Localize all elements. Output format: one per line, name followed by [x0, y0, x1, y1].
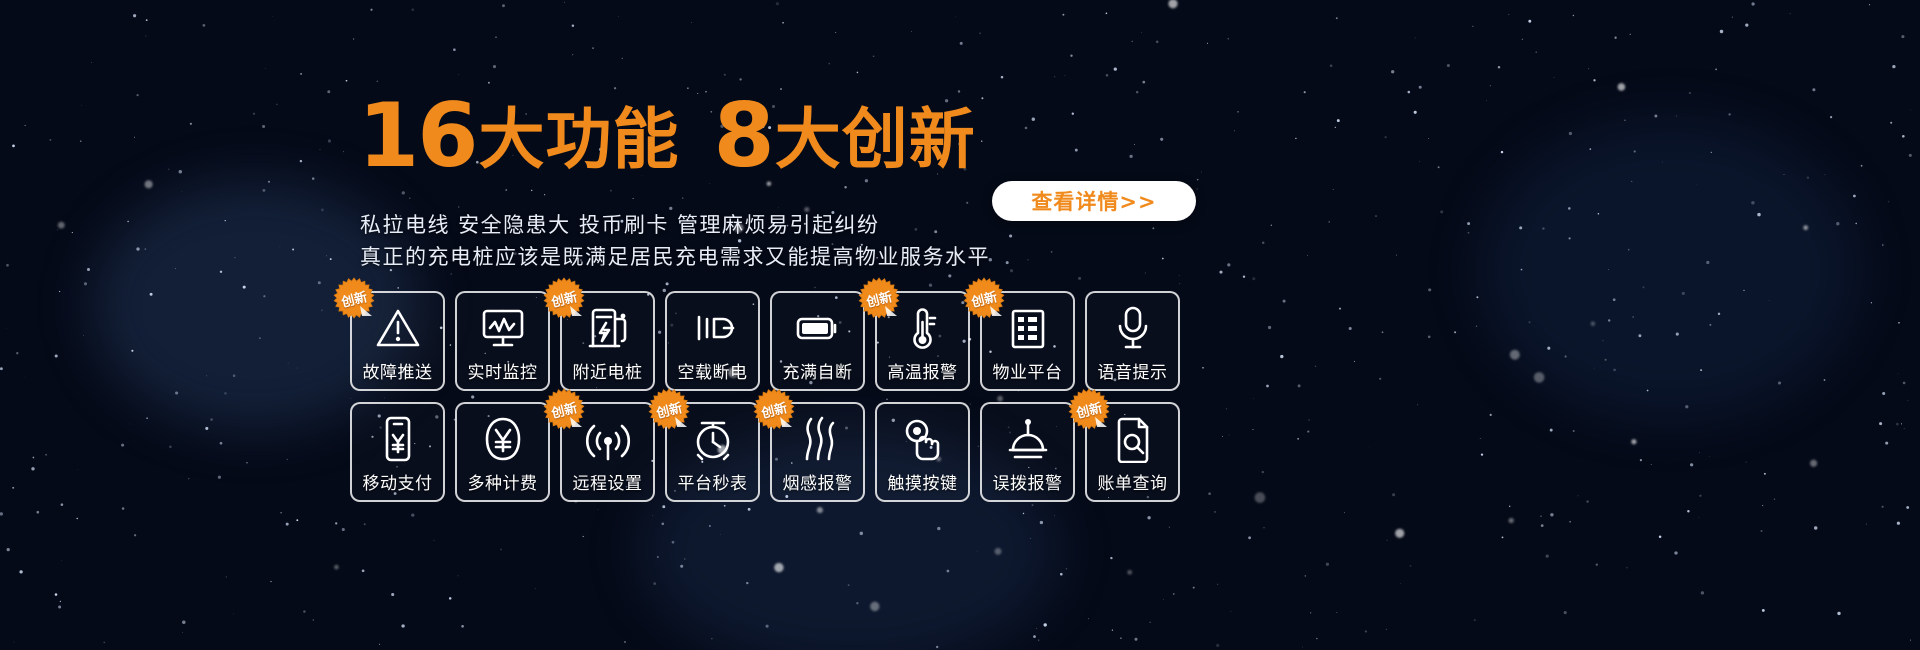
- monitor-waveform-icon: [457, 299, 548, 357]
- mobile-payment-icon: [352, 410, 443, 468]
- feature-card[interactable]: 创新附近电桩: [560, 291, 655, 391]
- feature-card[interactable]: 创新账单查询: [1085, 402, 1180, 502]
- headline-number-8: 8: [713, 84, 772, 187]
- feature-card-label: 触摸按键: [888, 469, 958, 494]
- feature-card[interactable]: 创新平台秒表: [665, 402, 760, 502]
- feature-card-label: 远程设置: [573, 469, 643, 494]
- feature-row-2: 移动支付多种计费创新远程设置创新平台秒表创新烟感报警触摸按键误拨报警创新账单查询: [350, 402, 1180, 502]
- subtitle-line-2: 真正的充电桩应该是既满足居民充电需求又能提高物业服务水平: [360, 241, 990, 271]
- feature-card-label: 附近电桩: [573, 358, 643, 383]
- headline: 16大功能8大创新: [358, 92, 976, 180]
- headline-text-innovations: 大创新: [775, 101, 976, 178]
- feature-card-label: 账单查询: [1098, 469, 1168, 494]
- promo-banner: 16大功能8大创新 私拉电线 安全隐患大 投币刷卡 管理麻烦易引起纠纷 真正的充…: [0, 0, 1920, 650]
- battery-full-icon: [772, 299, 863, 357]
- innovation-badge: 创新: [857, 276, 901, 320]
- innovation-badge: 创新: [332, 276, 376, 320]
- feature-card-label: 移动支付: [363, 469, 433, 494]
- feature-card[interactable]: 触摸按键: [875, 402, 970, 502]
- feature-card[interactable]: 多种计费: [455, 402, 550, 502]
- feature-card[interactable]: 创新高温报警: [875, 291, 970, 391]
- touch-hand-icon: [877, 410, 968, 468]
- feature-card[interactable]: 空载断电: [665, 291, 760, 391]
- feature-grid: 创新故障推送实时监控创新附近电桩空载断电充满自断创新高温报警创新物业平台语音提示…: [350, 291, 1180, 513]
- feature-card-label: 实时监控: [468, 358, 538, 383]
- feature-card-label: 语音提示: [1098, 358, 1168, 383]
- feature-card[interactable]: 创新故障推送: [350, 291, 445, 391]
- subtitle-line-1: 私拉电线 安全隐患大 投币刷卡 管理麻烦易引起纠纷: [360, 209, 880, 239]
- headline-number-16: 16: [358, 84, 476, 187]
- view-details-button[interactable]: 查看详情>>: [992, 181, 1196, 221]
- nebula-glow-3: [1480, 120, 1860, 420]
- feature-card-label: 物业平台: [993, 358, 1063, 383]
- feature-card[interactable]: 误拨报警: [980, 402, 1075, 502]
- feature-card[interactable]: 充满自断: [770, 291, 865, 391]
- alarm-bell-icon: [982, 410, 1073, 468]
- feature-card-label: 烟感报警: [783, 469, 853, 494]
- feature-card[interactable]: 语音提示: [1085, 291, 1180, 391]
- yuan-coin-icon: [457, 410, 548, 468]
- plug-power-off-icon: [667, 299, 758, 357]
- feature-card[interactable]: 实时监控: [455, 291, 550, 391]
- feature-card-label: 多种计费: [468, 469, 538, 494]
- feature-card[interactable]: 移动支付: [350, 402, 445, 502]
- innovation-badge: 创新: [647, 387, 691, 431]
- innovation-badge: 创新: [1067, 387, 1111, 431]
- headline-text-functions: 大功能: [478, 101, 679, 178]
- innovation-badge: 创新: [542, 276, 586, 320]
- feature-row-1: 创新故障推送实时监控创新附近电桩空载断电充满自断创新高温报警创新物业平台语音提示: [350, 291, 1180, 391]
- feature-card[interactable]: 创新远程设置: [560, 402, 655, 502]
- feature-card-label: 平台秒表: [678, 469, 748, 494]
- feature-card-label: 充满自断: [783, 358, 853, 383]
- feature-card-label: 高温报警: [888, 358, 958, 383]
- innovation-badge: 创新: [542, 387, 586, 431]
- feature-card[interactable]: 创新物业平台: [980, 291, 1075, 391]
- feature-card-label: 空载断电: [678, 358, 748, 383]
- feature-card-label: 故障推送: [363, 358, 433, 383]
- feature-card-label: 误拨报警: [993, 469, 1063, 494]
- innovation-badge: 创新: [752, 387, 796, 431]
- feature-card[interactable]: 创新烟感报警: [770, 402, 865, 502]
- innovation-badge: 创新: [962, 276, 1006, 320]
- microphone-icon: [1087, 299, 1178, 357]
